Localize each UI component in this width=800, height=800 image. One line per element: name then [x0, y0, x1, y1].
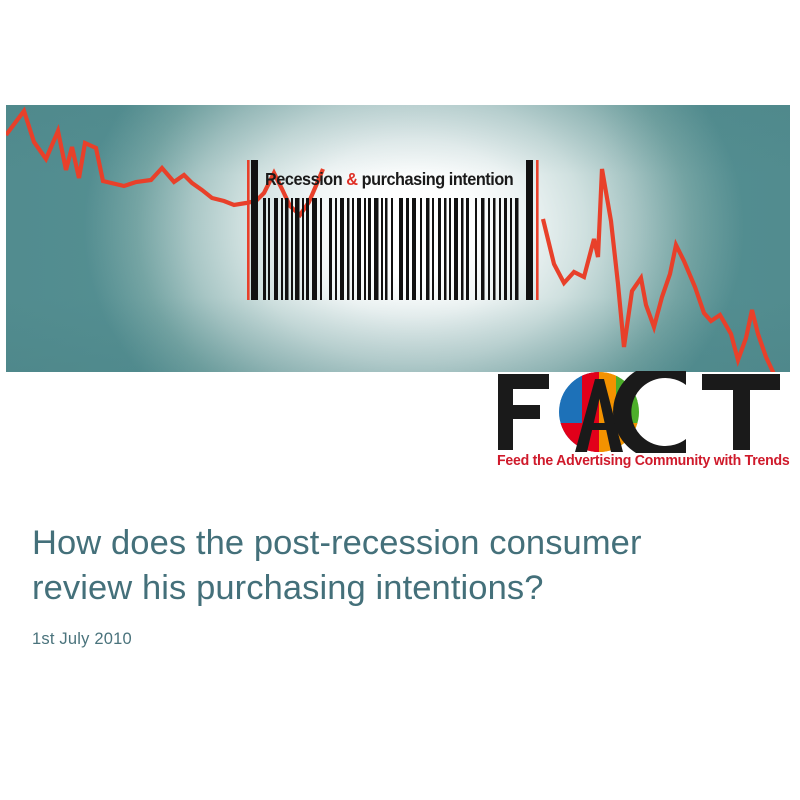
logo-letter-t — [702, 374, 780, 450]
presentation-date: 1st July 2010 — [32, 629, 762, 649]
barcode-label-text: Recession & purchasing intention — [265, 166, 520, 192]
logo-letter-f — [498, 374, 549, 450]
barcode-label-ampersand: & — [346, 169, 357, 189]
page-title: How does the post-recession consumer rev… — [32, 521, 762, 611]
fact-logo: Feed the Advertising Community with Tren… — [494, 371, 794, 479]
barcode-graphic: Recession & purchasing intention — [243, 160, 555, 300]
fact-wordmark — [494, 371, 794, 453]
barcode-label-before: Recession — [265, 169, 346, 189]
fact-tagline: Feed the Advertising Community with Tren… — [497, 453, 788, 469]
presentation-title-slide: Recession & purchasing intention — [0, 0, 800, 800]
page-title-line-2: review his purchasing intentions? — [32, 566, 762, 611]
trend-line-right — [543, 169, 774, 372]
title-block: How does the post-recession consumer rev… — [32, 521, 762, 649]
barcode-label-after: purchasing intention — [358, 169, 514, 189]
recession-banner-image: Recession & purchasing intention — [6, 105, 790, 372]
page-title-line-1: How does the post-recession consumer — [32, 521, 762, 566]
